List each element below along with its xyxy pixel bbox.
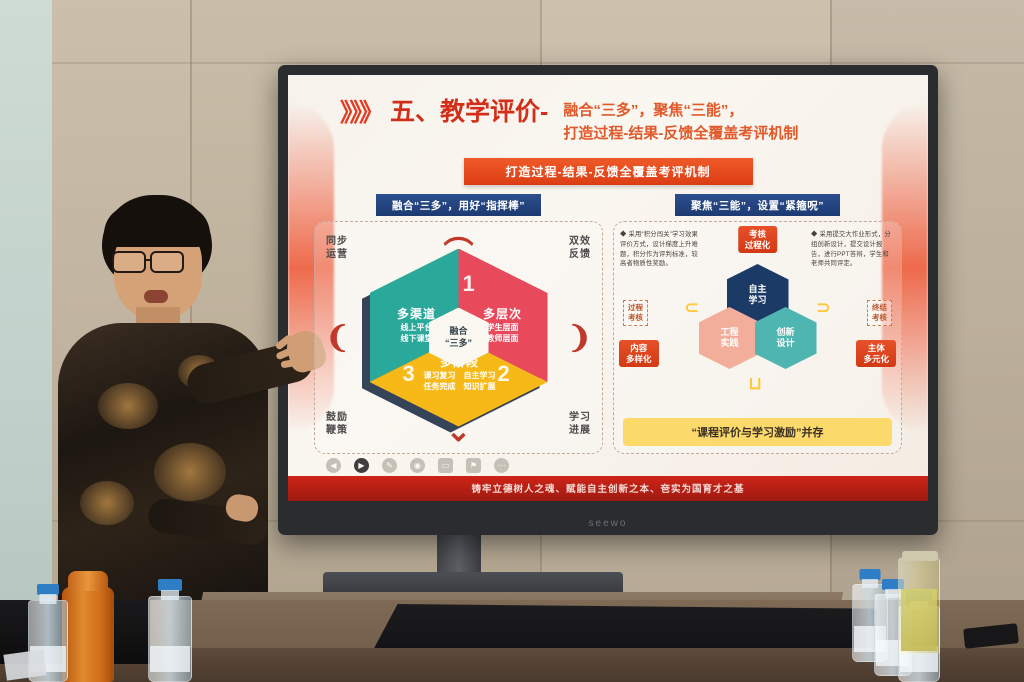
subtitle-line-2: 打造过程-结果-反馈全覆盖考评机制 bbox=[563, 125, 798, 142]
wall-line bbox=[52, 62, 1024, 64]
orange-thermos bbox=[62, 587, 114, 682]
slide-title-row: 》》》 五、教学评价- 融合“三多”，聚焦“三能”， 打造过程-结果-反馈全覆盖… bbox=[288, 75, 928, 145]
tag-subject-plural: 主体 多元化 bbox=[856, 340, 896, 367]
tea-jar-lid bbox=[902, 551, 938, 561]
thermos-cap bbox=[68, 571, 108, 591]
water-bottle bbox=[148, 596, 192, 682]
left-column: 融合“三多”，用好“指挥棒” 同步 运营 双效 反馈 bbox=[314, 194, 603, 454]
hex-line-1: 自主 bbox=[748, 284, 766, 295]
paper-sheet bbox=[3, 649, 46, 680]
blouse-pattern bbox=[98, 383, 158, 429]
glasses-left-lens bbox=[112, 251, 146, 273]
subtitle-line-1: 融合“三多”，聚焦“三能”， bbox=[563, 102, 743, 119]
blouse-pattern bbox=[80, 481, 134, 525]
dash-line-1: 终结 bbox=[872, 303, 887, 313]
tv-stand-neck bbox=[437, 535, 481, 573]
camera-icon[interactable]: ▭ bbox=[438, 458, 453, 473]
tag-line-2: 多样化 bbox=[626, 354, 652, 365]
presenter-mouth bbox=[144, 290, 168, 303]
display-brand-logo: seewo bbox=[278, 518, 938, 529]
left-panel: 同步 运营 双效 反馈 鼓励 鞭策 bbox=[314, 221, 603, 454]
yellow-arrow-left-icon: ⊂ bbox=[685, 298, 699, 318]
tag-content-diverse: 内容 多样化 bbox=[619, 340, 659, 367]
tag-line-1: 内容 bbox=[626, 343, 652, 354]
right-column: 聚焦“三能”，设置“紧箍呪” ◆ 采用“积分闯关”学习效果评价方式，设计梯度上升… bbox=[613, 194, 902, 454]
yellow-arrow-bottom-icon: ⊔ bbox=[749, 374, 762, 394]
dash-line-1: 过程 bbox=[628, 303, 643, 313]
presenter bbox=[40, 195, 290, 615]
classroom-scene: 》》》 五、教学评价- 融合“三多”，聚焦“三能”， 打造过程-结果-反馈全覆盖… bbox=[0, 0, 1024, 682]
slide-toolbar[interactable]: ◀ ▶ ✎ ◉ ▭ ⚑ ⋯ bbox=[288, 454, 928, 476]
blouse-pattern bbox=[154, 443, 226, 501]
record-icon[interactable]: ◉ bbox=[410, 458, 425, 473]
right-text-left: ◆ 采用“积分闯关”学习效果评价方式，设计梯度上升难题，积分作为评判标准，较高者… bbox=[620, 230, 704, 269]
right-text-right: ◆ 采用提交大作业形式，分组创新设计，提交设计报告，进行PPT答辩，学生和老师共… bbox=[811, 230, 895, 269]
tag-line-1: 主体 bbox=[863, 343, 889, 354]
bottle-neck bbox=[161, 590, 179, 600]
banner-wrap: 打造过程-结果-反馈全覆盖考评机制 bbox=[288, 158, 928, 185]
slide-footer-banner: 铸牢立德树人之魂、赋能自主创新之本、夿实为国育才之基 bbox=[288, 476, 928, 501]
hex-line-2: 实践 bbox=[720, 338, 738, 349]
tag-assessment-process: 考核 过程化 bbox=[738, 226, 778, 253]
right-panel: ◆ 采用“积分闯关”学习效果评价方式，设计梯度上升难题，积分作为评判标准，较高者… bbox=[613, 221, 902, 454]
bottle-neck bbox=[862, 579, 878, 588]
cycle-arrow-right-icon: ❩ bbox=[567, 320, 592, 355]
page-subtitle: 融合“三多”，聚焦“三能”， 打造过程-结果-反馈全覆盖考评机制 bbox=[563, 100, 798, 145]
interactive-display[interactable]: 》》》 五、教学评价- 融合“三多”，聚焦“三能”， 打造过程-结果-反馈全覆盖… bbox=[278, 65, 938, 535]
right-panel-content: ◆ 采用“积分闯关”学习效果评价方式，设计梯度上升难题，积分作为评判标准，较高者… bbox=[614, 222, 901, 453]
tea-jar bbox=[898, 558, 940, 654]
corner-label-line: 学习 bbox=[569, 412, 591, 423]
dash-line-2: 考核 bbox=[872, 313, 887, 323]
corner-label-line: 鼓励 bbox=[326, 412, 348, 423]
center-line-1: 融合 bbox=[449, 326, 467, 338]
presentation-slide: 》》》 五、教学评价- 融合“三多”，聚焦“三能”， 打造过程-结果-反馈全覆盖… bbox=[288, 75, 928, 501]
wedge-number-1: 1 bbox=[463, 271, 475, 297]
corner-label-line: 鞭策 bbox=[326, 425, 348, 436]
left-column-heading: 融合“三多”，用好“指挥棒” bbox=[376, 194, 541, 216]
chevrons-icon: 》》》 bbox=[340, 101, 381, 126]
pen-icon[interactable]: ✎ bbox=[382, 458, 397, 473]
tag-line-2: 过程化 bbox=[745, 240, 771, 251]
play-icon[interactable]: ▶ bbox=[354, 458, 369, 473]
dashed-tag-process-assessment: 过程 考核 bbox=[623, 300, 648, 326]
center-line-2: “三多” bbox=[445, 338, 472, 350]
corner-label-line: 同步 bbox=[326, 236, 348, 247]
wedge-number-3: 3 bbox=[403, 361, 415, 387]
corner-label-line: 进展 bbox=[569, 425, 591, 436]
hex-line-1: 工程 bbox=[720, 327, 738, 338]
yellow-arrow-right-icon: ⊃ bbox=[816, 298, 830, 318]
dash-line-2: 考核 bbox=[628, 313, 643, 323]
tea-liquid bbox=[901, 589, 937, 651]
dashed-tag-final-assessment: 终结 考核 bbox=[867, 300, 892, 326]
corner-label-bottom-left: 鼓励 鞭策 bbox=[326, 412, 348, 437]
content-columns: 融合“三多”，用好“指挥棒” 同步 运营 双效 反馈 bbox=[288, 185, 928, 454]
mini-hexagon-group: ⊂ ⊃ ⊔ 自主 学习 工程 实践 bbox=[699, 264, 817, 382]
more-icon[interactable]: ⋯ bbox=[494, 458, 509, 473]
glasses-right-lens bbox=[150, 251, 184, 273]
glasses-bridge bbox=[146, 259, 152, 261]
tag-line-1: 考核 bbox=[745, 229, 771, 240]
hex-line-2: 设计 bbox=[776, 338, 794, 349]
presenter-fringe bbox=[104, 205, 210, 247]
corner-label-top-left: 同步 运营 bbox=[326, 236, 348, 261]
flag-icon[interactable]: ⚑ bbox=[466, 458, 481, 473]
hexagon-cycle-diagram: 同步 运营 双效 反馈 鼓励 鞭策 bbox=[315, 222, 602, 453]
corner-label-line: 运营 bbox=[326, 249, 348, 260]
corner-label-top-right: 双效 反馈 bbox=[569, 236, 591, 261]
wedge-sub: 课习复习 自主学习 bbox=[418, 371, 502, 381]
wedge-sub: 任务完成 知识扩展 bbox=[418, 382, 502, 392]
hex-line-1: 创新 bbox=[776, 327, 794, 338]
bottle-neck bbox=[40, 594, 57, 604]
corner-label-line: 反馈 bbox=[569, 249, 591, 260]
hexagon-wrap: 1 2 3 多层次 学生层面 教师层面 多渠道 bbox=[370, 249, 548, 427]
tag-line-2: 多元化 bbox=[863, 354, 889, 365]
summary-bar: “课程评价与学习激励”并存 bbox=[623, 418, 892, 446]
bottle-body bbox=[148, 596, 192, 682]
back-icon[interactable]: ◀ bbox=[326, 458, 341, 473]
cycle-arrow-left-icon: ❨ bbox=[325, 320, 350, 355]
page-title: 五、教学评价- bbox=[390, 99, 548, 125]
display-screen[interactable]: 》》》 五、教学评价- 融合“三多”，聚焦“三能”， 打造过程-结果-反馈全覆盖… bbox=[288, 75, 928, 501]
hex-line-2: 学习 bbox=[748, 295, 766, 306]
corner-label-bottom-right: 学习 进展 bbox=[569, 412, 591, 437]
right-column-heading: 聚焦“三能”，设置“紧箍呪” bbox=[675, 194, 840, 216]
headline-banner: 打造过程-结果-反馈全覆盖考评机制 bbox=[464, 158, 753, 185]
corner-label-line: 双效 bbox=[569, 236, 591, 247]
bottle-label bbox=[150, 646, 190, 672]
